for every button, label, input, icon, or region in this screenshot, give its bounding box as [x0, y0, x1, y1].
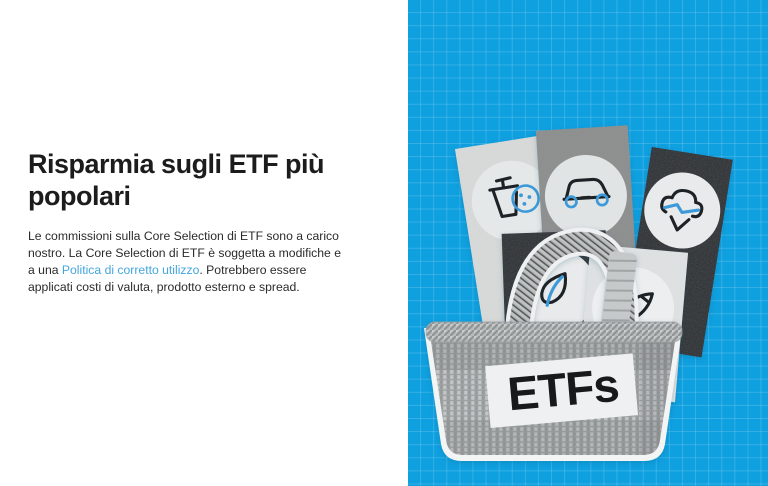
etf-basket-illustration: ETFs	[408, 0, 768, 486]
copy-panel: Risparmia sugli ETF più popolari Le comm…	[0, 0, 408, 486]
fair-use-policy-link[interactable]: Politica di corretto utilizzo	[62, 263, 200, 277]
body-paragraph: Le commissioni sulla Core Selection di E…	[28, 228, 346, 296]
illustration-panel: ETFs	[408, 0, 768, 486]
promo-banner: Risparmia sugli ETF più popolari Le comm…	[0, 0, 768, 486]
copy-block: Risparmia sugli ETF più popolari Le comm…	[28, 148, 358, 296]
page-title: Risparmia sugli ETF più popolari	[28, 148, 348, 212]
basket-label-text-layer: ETFs	[408, 0, 768, 486]
basket-label-etfs: ETFs	[505, 358, 620, 420]
